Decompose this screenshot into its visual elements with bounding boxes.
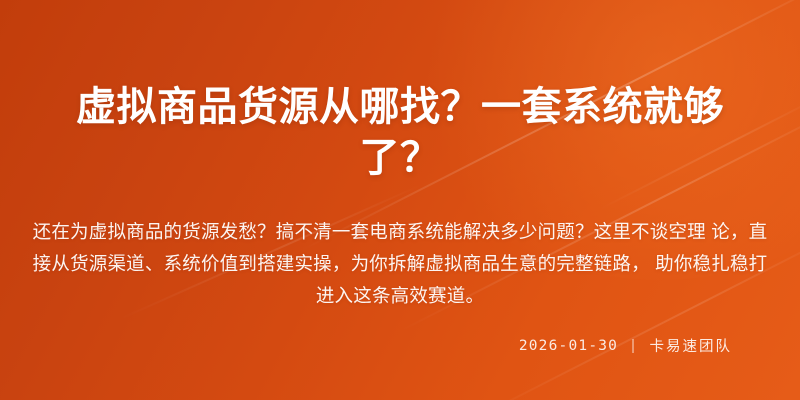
- banner-title-line-1: 虚拟商品货源从哪找？一套系统就够: [76, 85, 724, 129]
- layout-spacer: [28, 312, 772, 335]
- team-name: 卡易速团队: [650, 335, 733, 356]
- publish-date: 2026-01-30: [519, 338, 618, 354]
- banner-description-line-1: 还在为虚拟商品的货源发愁？搞不清一套电商系统能解决多少问题？这里不谈空理: [33, 221, 706, 242]
- footer-separator: |: [631, 338, 636, 354]
- banner-description: 还在为虚拟商品的货源发愁？搞不清一套电商系统能解决多少问题？这里不谈空理 论，直…: [28, 216, 772, 311]
- banner-content: 虚拟商品货源从哪找？一套系统就够 了？ 还在为虚拟商品的货源发愁？搞不清一套电商…: [0, 0, 800, 400]
- promo-banner: 虚拟商品货源从哪找？一套系统就够 了？ 还在为虚拟商品的货源发愁？搞不清一套电商…: [0, 0, 800, 400]
- banner-footer: 2026-01-30 | 卡易速团队: [28, 335, 772, 400]
- banner-title-line-2: 了？: [360, 136, 441, 180]
- banner-title: 虚拟商品货源从哪找？一套系统就够 了？: [28, 0, 772, 184]
